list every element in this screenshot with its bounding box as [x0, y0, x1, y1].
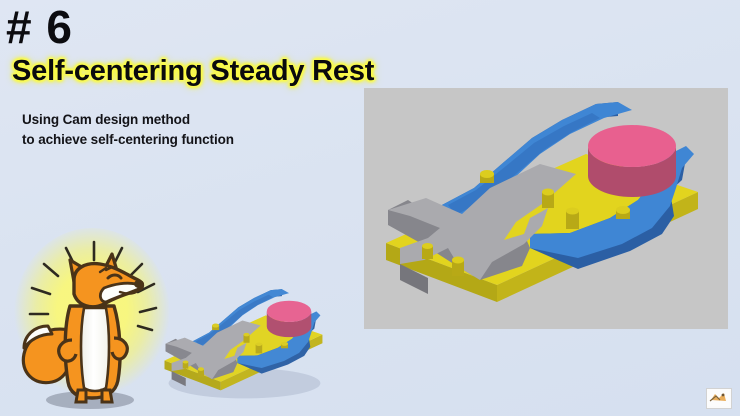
fox-logo-watermark [706, 388, 732, 409]
slide-root: # 6 Self-centering Steady Rest Using Cam… [0, 0, 740, 416]
subtitle-text: Using Cam design method to achieve self-… [22, 110, 234, 149]
mascot-illustration [8, 222, 178, 412]
main-render-panel[interactable] [364, 88, 728, 329]
proud-fox-icon [8, 222, 178, 412]
main-title: Self-centering Steady Rest [12, 57, 374, 86]
steady-rest-assembly-illustration [364, 88, 728, 329]
roller-cylinder [588, 125, 676, 197]
fox-logo-icon [707, 389, 729, 406]
page-title: # 6 [6, 4, 73, 50]
